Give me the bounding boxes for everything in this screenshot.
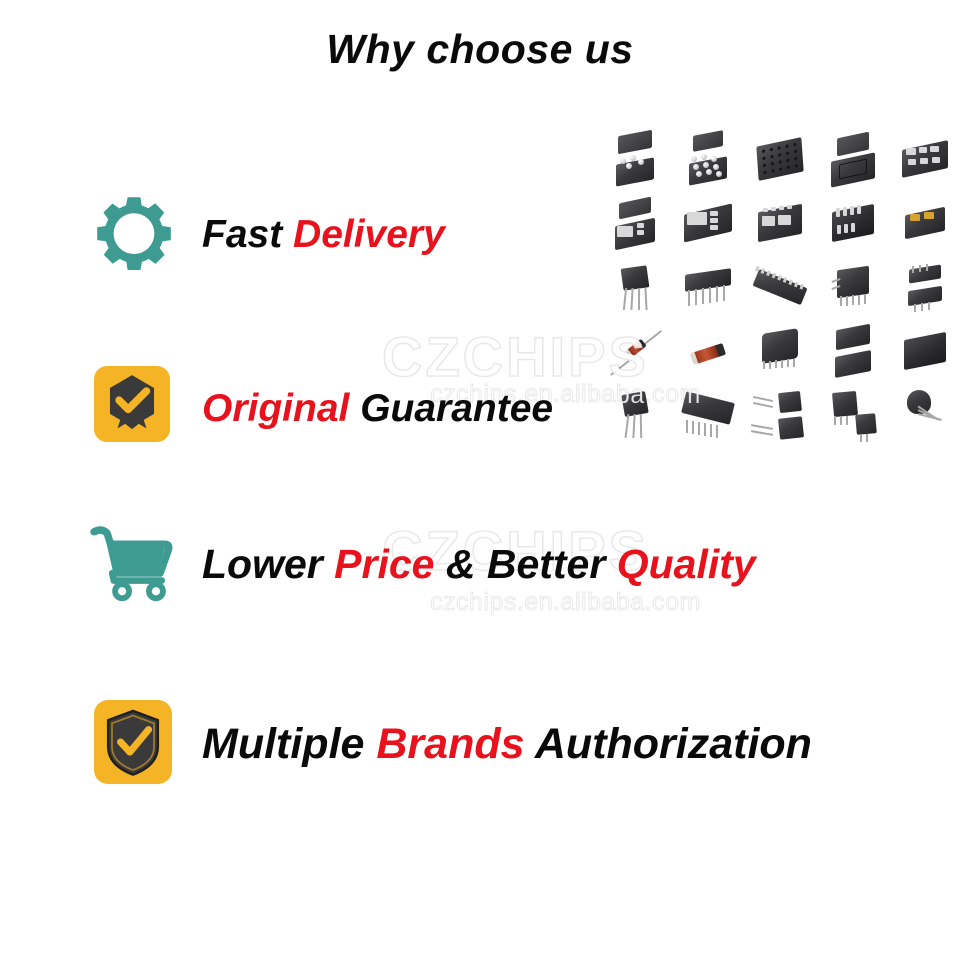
feature-segment: Authorization: [525, 720, 812, 768]
feature-icon-wrapper: [88, 518, 180, 610]
feature-segment: Brands: [376, 720, 524, 768]
package-to-220f-pair: [749, 384, 811, 446]
shopping-cart-icon: [90, 526, 174, 607]
collage-row: [604, 128, 956, 190]
badge-check-icon: [94, 366, 170, 447]
feature-segment: Guarantee: [360, 387, 553, 430]
collage-row: [604, 320, 956, 382]
feature-segment: Original: [202, 387, 360, 430]
package-soic-8-pair: [894, 256, 956, 318]
feature-segment: Quality: [617, 541, 756, 587]
package-qfp-flat-pair: [822, 320, 884, 382]
package-zip-module: [677, 384, 739, 446]
package-dfn-open-lid: [604, 192, 666, 254]
shield-check-icon: [94, 700, 172, 789]
gear-icon: [94, 194, 174, 279]
feature-item-lower-price: Lower Price & Better Quality: [88, 518, 756, 610]
package-to-92-3-lead: [604, 384, 666, 446]
feature-item-original-guarantee: Original Guarantee: [88, 362, 553, 454]
feature-item-fast-delivery: Fast Delivery: [88, 188, 445, 280]
package-to-92-4-lead: [604, 256, 666, 318]
feature-label-fast-delivery: Fast Delivery: [202, 215, 445, 254]
package-dip-14: [677, 256, 739, 318]
package-melf-diode: [677, 320, 739, 382]
package-to-263-pair: [822, 384, 884, 446]
package-dfn-gold-pad: [894, 192, 956, 254]
feature-segment: Multiple: [202, 720, 376, 768]
feature-item-multiple-brands: Multiple Brands Authorization: [88, 698, 812, 790]
feature-icon-wrapper: [88, 362, 180, 454]
package-qfn-split-pad: [749, 192, 811, 254]
package-qfn-multi-pad: [894, 128, 956, 190]
package-axial-diode: [604, 320, 666, 382]
page-title: Why choose us: [0, 26, 960, 73]
feature-icon-wrapper: [88, 188, 180, 280]
feature-segment: Fast: [202, 213, 293, 256]
package-to-92-round: [894, 384, 956, 446]
feature-icon-wrapper: [88, 698, 180, 790]
package-dfn-large-pad: [677, 192, 739, 254]
feature-segment: Lower: [202, 541, 334, 587]
feature-segment: Price: [334, 541, 434, 587]
feature-label-original-guarantee: Original Guarantee: [202, 389, 553, 428]
feature-label-multiple-brands: Multiple Brands Authorization: [202, 723, 812, 766]
feature-segment: & Better: [434, 541, 616, 587]
package-flip-chip-lid: [822, 128, 884, 190]
collage-row: [604, 192, 956, 254]
product-collage: [604, 128, 956, 458]
feature-segment: Delivery: [293, 213, 445, 256]
package-dip-16-wide: [749, 256, 811, 318]
collage-row: [604, 256, 956, 318]
package-bga-balls: [677, 128, 739, 190]
package-plcc-20: [749, 320, 811, 382]
package-qfn-large: [894, 320, 956, 382]
feature-label-lower-price: Lower Price & Better Quality: [202, 544, 756, 585]
collage-row: [604, 384, 956, 446]
package-bga-with-lid: [604, 128, 666, 190]
package-tqfp-32: [822, 256, 884, 318]
package-bga-array: [749, 128, 811, 190]
package-qfn-16-lead: [822, 192, 884, 254]
